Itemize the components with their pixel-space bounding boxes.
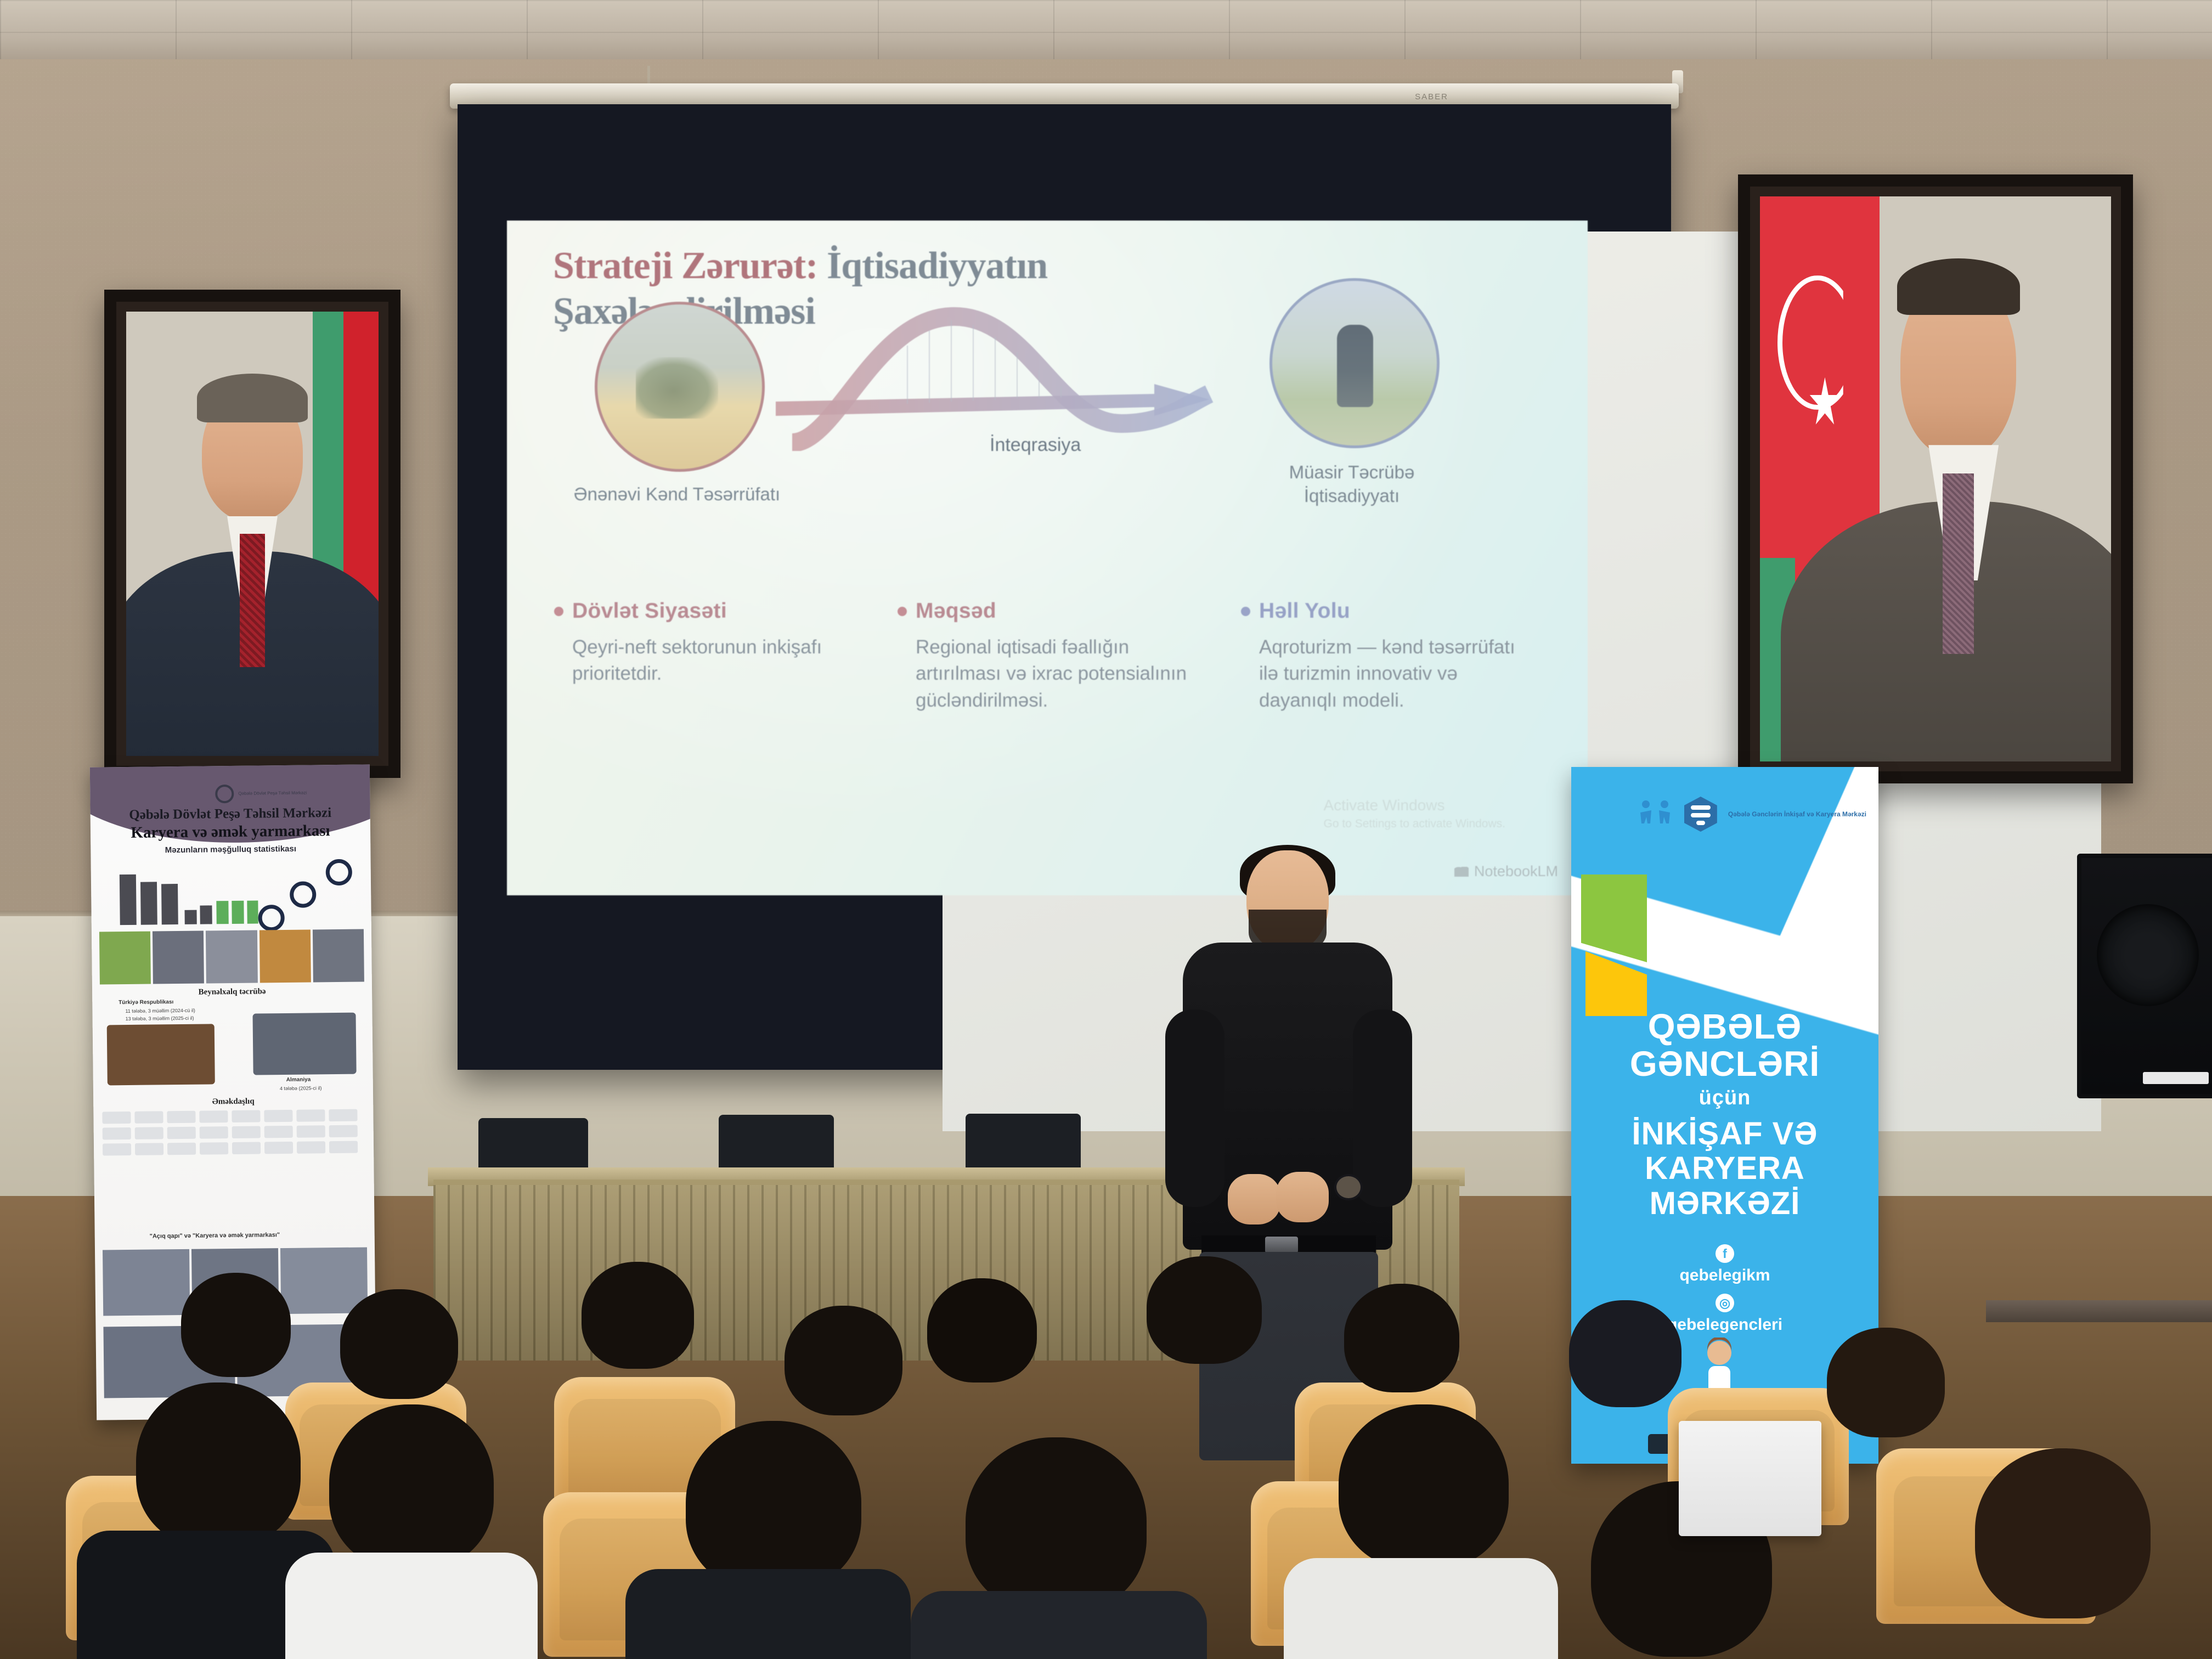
- audience-body: [285, 1553, 538, 1659]
- projected-slide: Strateji Zərurət: İqtisadiyyatın Şaxələn…: [507, 221, 1588, 895]
- presenter-left-hand: [1228, 1174, 1280, 1224]
- audience-body: [1284, 1558, 1558, 1659]
- poster-headline: Karyera və əmək yarmarkası: [100, 822, 360, 843]
- bullet-body-1: Qeyri-neft sektorunun inkişafı prioritet…: [572, 634, 850, 687]
- portrait-canvas: [1760, 196, 2111, 761]
- audience-head: [927, 1278, 1037, 1383]
- poster-section-cooperation: Əməkdaşlıq: [101, 1096, 365, 1108]
- traditional-agriculture-image: [595, 302, 765, 472]
- audience-head: [966, 1437, 1147, 1613]
- audience-head-hijab: [1569, 1300, 1681, 1407]
- poster-photo-workshop: [107, 1024, 215, 1085]
- poster-partner-logos: [102, 1109, 365, 1155]
- windows-activation-watermark: Activate Windows Go to Settings to activ…: [1324, 797, 1506, 831]
- audience-head: [686, 1421, 861, 1591]
- presenter-right-hand: [1276, 1172, 1329, 1222]
- audience-head: [1344, 1284, 1459, 1392]
- bullet-dot-icon: [1241, 607, 1250, 616]
- poster-logo: Qəbələ Dövlət Peşə Təhsil Mərkəzi: [215, 784, 307, 804]
- bullet-body-3: Aqroturizm — kənd təsərrüfatı ilə turizm…: [1259, 634, 1537, 714]
- poster-bar-chart: [116, 862, 259, 925]
- tractor-icon: [636, 357, 718, 419]
- integration-label: İnteqrasiya: [990, 435, 1081, 456]
- bullet-dot-icon: [554, 607, 563, 616]
- poster-section-international: Beynəlxalq təcrübə: [100, 986, 364, 998]
- banner-line-4: KARYERA: [1571, 1151, 1878, 1186]
- bullet-body-2: Regional iqtisadi fəallığın artırılması …: [916, 634, 1194, 714]
- ceiling-tile-grid: [0, 0, 2212, 65]
- pa-speaker: [2077, 854, 2212, 1098]
- notebooklm-logo-icon: [1454, 867, 1469, 877]
- banner-line-3: İNKİŞAF VƏ: [1571, 1116, 1878, 1152]
- portrait-heydar-aliyev: [104, 290, 400, 778]
- portrait-tie: [240, 534, 265, 667]
- notebooklm-watermark: NotebookLM: [1454, 863, 1558, 880]
- banner-headline-block: QƏBƏLƏ GƏNCLƏRİ üçün İNKİŞAF VƏ KARYERA …: [1571, 1008, 1878, 1221]
- audience-head: [582, 1262, 694, 1369]
- banner-connector: üçün: [1571, 1086, 1878, 1110]
- banner-line-2: GƏNCLƏRİ: [1571, 1046, 1878, 1083]
- portrait-hair: [1897, 258, 2020, 315]
- youth-agency-logo-icon: [1637, 799, 1673, 829]
- audience-head: [181, 1273, 291, 1377]
- portrait-tie: [1943, 473, 1974, 654]
- portrait-hair: [197, 374, 308, 422]
- poster-logo-label: Qəbələ Dövlət Peşə Təhsil Mərkəzi: [238, 791, 307, 796]
- audience-head: [1827, 1328, 1945, 1437]
- instagram-icon: ◎: [1716, 1294, 1734, 1312]
- audience-head: [1975, 1448, 2151, 1618]
- bullet-column-2: Məqsəd Regional iqtisadi fəallığın artır…: [898, 599, 1194, 714]
- banner-logo-text: Qəbələ Gənclərin İnkişaf və Karyera Mərk…: [1728, 810, 1866, 819]
- presenter-left-arm: [1165, 1009, 1224, 1207]
- banner-line-1: QƏBƏLƏ: [1571, 1008, 1878, 1046]
- banner-logo-row: Qəbələ Gənclərin İnkişaf və Karyera Mərk…: [1637, 797, 1866, 832]
- audience-head: [1339, 1404, 1509, 1569]
- presenter-right-arm: [1353, 1009, 1412, 1207]
- audience-head: [340, 1289, 458, 1399]
- poster-turkey-item-2: 13 tələbə, 3 müəllim (2025-ci il): [126, 1015, 194, 1022]
- portrait-canvas: [126, 312, 379, 756]
- poster-germany-item-1: 4 tələbə (2025-ci il): [280, 1085, 322, 1091]
- tabletop-mini-banner: [1679, 1421, 1821, 1536]
- presenter-belt-buckle: [1265, 1237, 1298, 1253]
- bullet-dot-icon: [898, 607, 907, 616]
- bridge-integration-graphic: [770, 286, 1264, 451]
- right-diagram-caption: Müasir Təcrübə İqtisadiyyatı: [1248, 461, 1456, 508]
- audience-head: [1147, 1256, 1262, 1364]
- banner-line-5: MƏRKƏZİ: [1571, 1186, 1878, 1221]
- speaker-brand-badge: [2143, 1072, 2209, 1084]
- bullet-column-3: Həll Yolu Aqroturizm — kənd təsərrüfatı …: [1241, 599, 1537, 714]
- speaker-cone: [2097, 904, 2199, 1006]
- presenter-wristwatch: [1334, 1174, 1363, 1200]
- poster-country-turkey: Türkiyə Respublikası: [119, 999, 173, 1006]
- screen-brand-label: SABER: [1415, 92, 1448, 101]
- bullet-title-3: Həll Yolu: [1259, 599, 1350, 623]
- poster-footer-note: "Açıq qapı" və "Karyera və əmək yarmarka…: [150, 1232, 280, 1239]
- poster-photo-strip-1: [99, 929, 364, 984]
- poster-photo-germany: [253, 1013, 357, 1075]
- audience-head: [785, 1306, 902, 1415]
- poster-turkey-item-1: 11 tələbə, 3 müəllim (2024-cü il): [125, 1008, 195, 1014]
- poster-org-line: Qəbələ Dövlət Peşə Təhsil Mərkəzi: [100, 805, 360, 823]
- portrait-ilham-aliyev: [1738, 174, 2133, 783]
- audience-body: [911, 1591, 1207, 1659]
- facebook-icon: f: [1716, 1244, 1734, 1263]
- ceiling: [0, 0, 2212, 65]
- poster-donut-stats: [261, 859, 366, 926]
- bullet-column-1: Dövlət Siyasəti Qeyri-neft sektorunun in…: [554, 599, 850, 714]
- bullet-title-2: Məqsəd: [916, 599, 996, 623]
- facebook-handle: qebelegikm: [1571, 1266, 1878, 1285]
- modern-experience-economy-image: [1269, 278, 1440, 448]
- audience-head: [136, 1383, 301, 1547]
- poster-country-germany: Almaniya: [286, 1077, 311, 1083]
- left-diagram-caption: Ənənəvi Kənd Təsərrüfatı: [573, 483, 781, 506]
- slide-title-highlight: Strateji Zərurət:: [553, 245, 817, 287]
- poster-subhead: Məzunların məşğulluq statistikası: [100, 844, 360, 856]
- poster-logo-ring-icon: [215, 785, 234, 803]
- slide-bullet-row: Dövlət Siyasəti Qeyri-neft sektorunun in…: [554, 599, 1553, 714]
- audience-body: [625, 1569, 911, 1659]
- tourist-figure-icon: [1337, 325, 1373, 407]
- side-table: [1986, 1300, 2212, 1322]
- banner-facebook[interactable]: f qebelegikm: [1571, 1244, 1878, 1285]
- center-hex-logo-icon: [1684, 797, 1717, 832]
- presentation-room-photo: SABER Strateji Zərurət: İqtisadiyyatın Ş…: [0, 0, 2212, 1659]
- audience-head: [329, 1404, 494, 1569]
- bullet-title-1: Dövlət Siyasəti: [572, 599, 727, 623]
